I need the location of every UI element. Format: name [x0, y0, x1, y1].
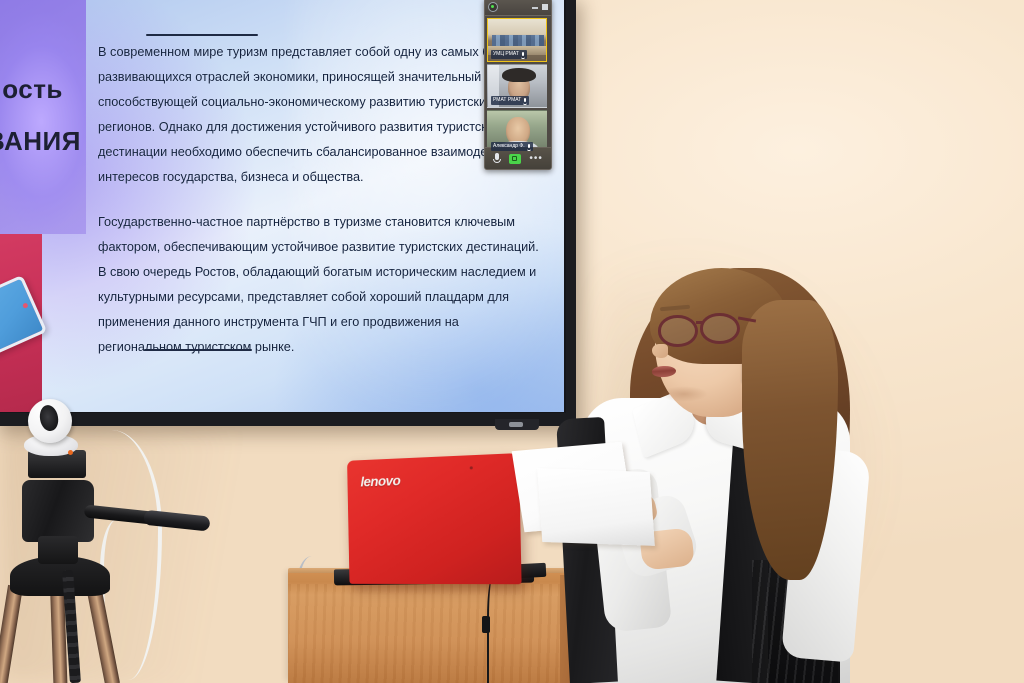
participant-name: УМЦ РМАТ	[493, 51, 519, 58]
presentation-scene: ность ВАНИЯ В современном мире туризм пр…	[0, 0, 1024, 683]
participant-name-badge: РМАТ РМАТ	[491, 96, 529, 105]
held-paper	[537, 468, 655, 546]
mic-muted-icon	[521, 52, 525, 58]
participant-name: РМАТ РМАТ	[493, 97, 521, 104]
participant-name: Александр Ф.	[493, 143, 525, 150]
wall-mounted-tv: ность ВАНИЯ В современном мире туризм пр…	[0, 0, 576, 426]
tv-bezel	[0, 0, 576, 426]
mic-muted-icon	[527, 144, 531, 150]
podium-wood-grain	[288, 584, 564, 683]
lenovo-logo: lenovo	[360, 472, 400, 489]
eyeglasses-bridge	[696, 321, 704, 324]
mic-muted-icon	[523, 98, 527, 104]
participant-name-badge: Александр Ф.	[491, 142, 533, 151]
participant-name-badge: УМЦ РМАТ	[491, 50, 527, 59]
eyeglasses-right-lens	[700, 313, 740, 344]
presenter-chin-shadow	[660, 386, 708, 402]
cable-clip	[482, 616, 490, 633]
laptop-lid[interactable]: lenovo	[347, 453, 522, 584]
tv-control-panel	[495, 419, 539, 430]
laptop-lid-dot	[470, 466, 473, 469]
webcam-indicator-light	[68, 450, 73, 455]
presenter-nose	[652, 344, 668, 358]
tripod-neck	[38, 536, 78, 564]
eyeglasses-left-lens	[658, 315, 698, 347]
tripod-yoke	[22, 480, 94, 542]
